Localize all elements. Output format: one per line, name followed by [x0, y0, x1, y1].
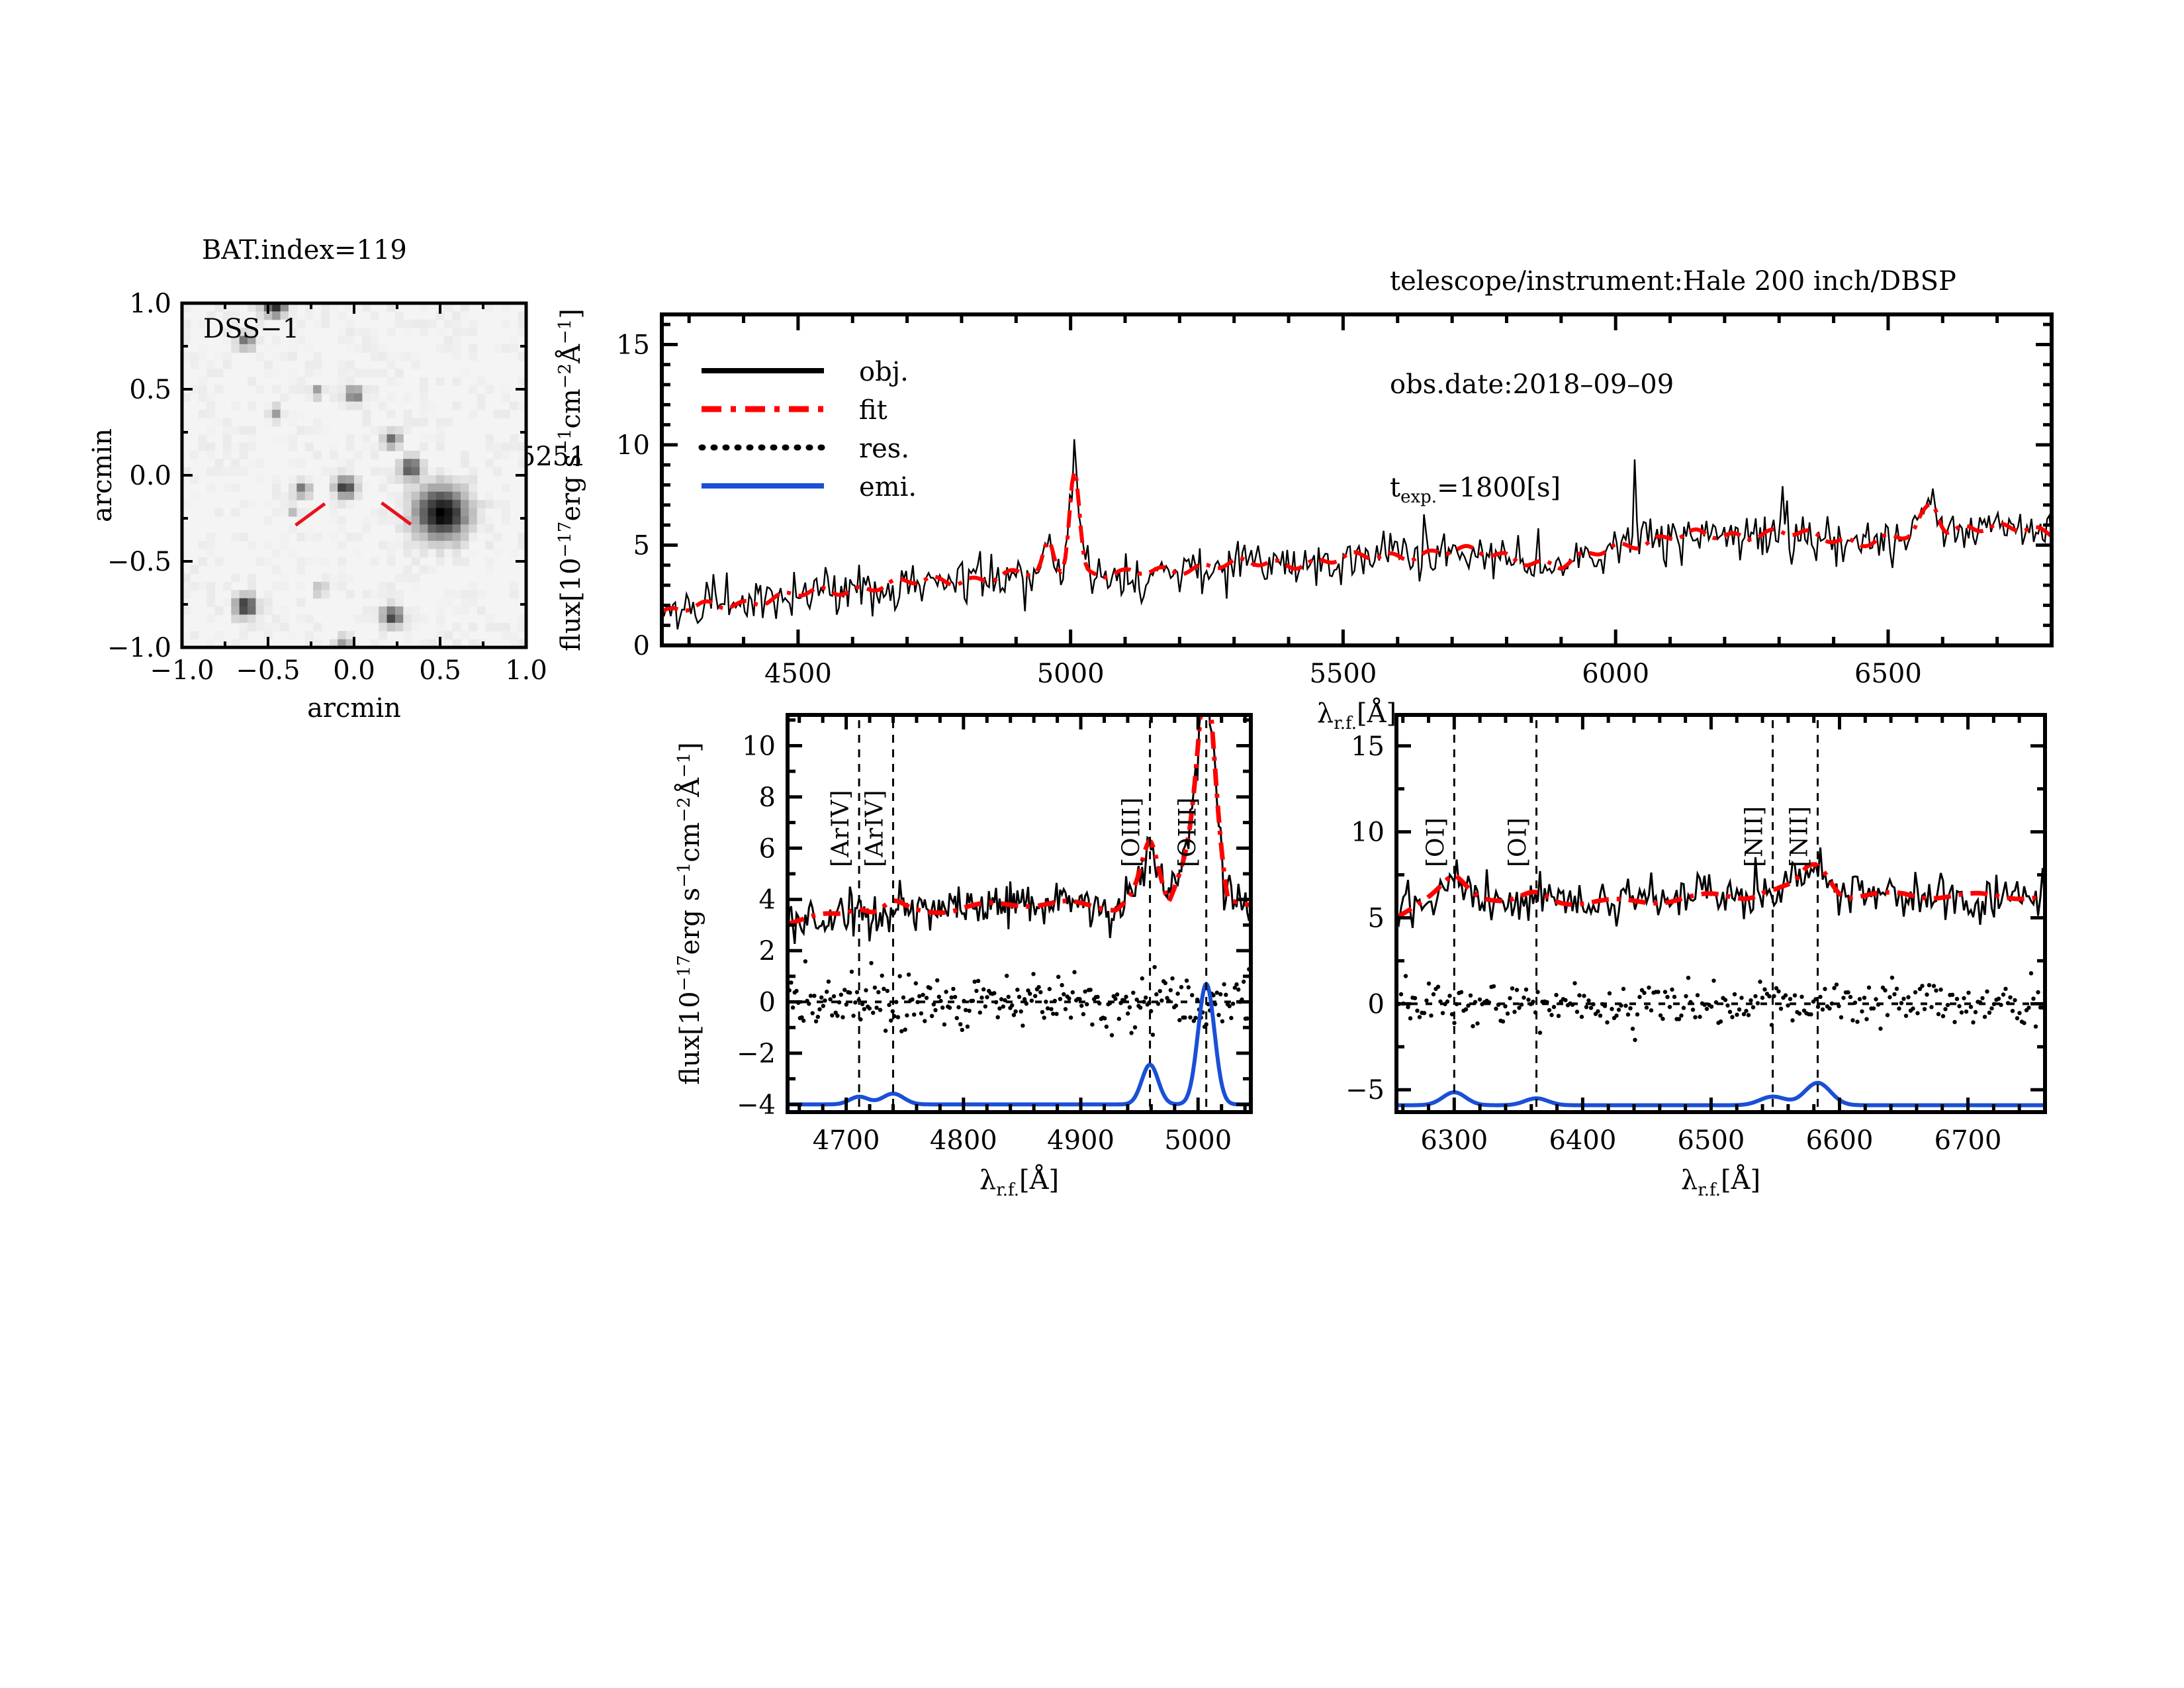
residual-point — [1779, 1007, 1783, 1011]
residual-point — [1617, 1008, 1621, 1011]
residual-point — [897, 974, 901, 978]
residual-point — [853, 1000, 857, 1004]
residual-point — [1231, 1002, 1235, 1006]
residual-point — [1776, 989, 1780, 993]
residual-point — [956, 1005, 960, 1009]
x-axis-label: λr.f.[Å] — [1681, 1164, 1760, 1200]
residual-point — [1575, 1009, 1579, 1013]
halpha-zoom-panel: [OI][OI][NII][NII]63006400650066006700−5… — [1297, 688, 2085, 1218]
residual-point — [811, 1011, 815, 1015]
residual-point — [1506, 1011, 1510, 1015]
residual-point — [1901, 997, 1905, 1001]
legend: obj.fitres.emi. — [702, 357, 917, 502]
residual-point — [1438, 1000, 1442, 1004]
residual-point — [828, 997, 832, 1001]
x-tick-label: 6300 — [1420, 1125, 1488, 1156]
x-tick-label: 6500 — [1854, 659, 1922, 689]
residual-point — [832, 994, 836, 998]
residual-point — [1649, 1008, 1653, 1012]
residual-point — [1853, 1001, 1857, 1005]
residual-point — [1864, 1017, 1868, 1021]
residual-point — [1725, 1004, 1729, 1008]
residual-point — [971, 999, 975, 1003]
residual-point — [1950, 993, 1954, 997]
residual-point — [1591, 1002, 1595, 1006]
residual-point — [1031, 972, 1035, 976]
residual-point — [1957, 1004, 1961, 1008]
residual-point — [907, 972, 911, 976]
residual-point — [1013, 1009, 1017, 1013]
residual-point — [979, 996, 983, 1000]
residual-point — [2006, 1001, 2010, 1005]
residual-point — [2022, 1021, 2026, 1025]
residual-point — [1056, 975, 1060, 979]
finder-xlabel: arcmin — [307, 693, 401, 724]
finder-xtick: 0.5 — [419, 655, 461, 686]
residual-point — [1605, 1020, 1609, 1024]
residual-point — [1936, 1012, 1940, 1016]
residual-point — [1520, 1002, 1524, 1006]
residual-point — [1823, 987, 1827, 991]
residual-point — [874, 1006, 878, 1009]
residual-point — [862, 1007, 866, 1011]
residual-point — [1985, 990, 1989, 994]
residual-point — [1424, 998, 1428, 1002]
residual-point — [1021, 1023, 1024, 1027]
residual-point — [1920, 984, 1924, 988]
residual-point — [999, 997, 1003, 1001]
residual-point — [1447, 994, 1451, 998]
residual-point — [1030, 999, 1034, 1003]
y-tick-label: 0 — [759, 988, 776, 1018]
residual-point — [1418, 1015, 1422, 1019]
residual-point — [1003, 998, 1007, 1002]
residual-point — [791, 1006, 795, 1009]
y-tick-label: 10 — [1351, 818, 1385, 848]
finder-ylabel: arcmin — [87, 428, 118, 522]
residual-point — [967, 1009, 971, 1013]
residual-point — [1090, 1023, 1094, 1027]
residual-point — [1015, 988, 1019, 992]
residual-point — [950, 996, 954, 1000]
residual-point — [1878, 1027, 1882, 1031]
residual-point — [1069, 1015, 1073, 1019]
residual-point — [1177, 1018, 1181, 1022]
y-tick-label: 5 — [1368, 903, 1385, 933]
residual-point — [1188, 1015, 1192, 1019]
y-tick-label: 15 — [1351, 731, 1385, 762]
finder-ytick: 0.5 — [129, 375, 171, 405]
residual-point — [1631, 1027, 1635, 1031]
residual-point — [864, 988, 868, 992]
residual-point — [1117, 1017, 1121, 1021]
residual-point — [816, 1015, 820, 1019]
residual-point — [1672, 995, 1676, 999]
residual-point — [844, 1002, 848, 1006]
residual-point — [974, 989, 978, 993]
residual-point — [807, 1002, 811, 1006]
residual-point — [901, 996, 905, 1000]
residual-point — [903, 1027, 907, 1031]
residual-point — [1971, 1020, 1975, 1024]
residual-point — [923, 1019, 927, 1023]
residual-point — [1874, 997, 1878, 1001]
residual-point — [938, 999, 942, 1003]
y-tick-label: −2 — [737, 1039, 776, 1069]
residual-point — [973, 980, 977, 984]
residual-point — [1242, 980, 1246, 984]
residual-point — [1925, 992, 1929, 996]
residual-point — [1001, 1004, 1005, 1008]
residual-point — [842, 988, 846, 992]
residual-point — [935, 978, 939, 982]
residual-point — [1762, 988, 1766, 992]
residual-point — [1897, 1006, 1901, 1010]
residual-point — [1224, 993, 1228, 997]
residual-point — [1126, 1011, 1130, 1015]
residual-point — [1837, 1004, 1841, 1008]
residual-point — [1684, 994, 1688, 998]
residual-point — [1637, 995, 1641, 999]
residual-point — [930, 1014, 934, 1018]
residual-point — [1156, 1002, 1160, 1006]
residual-point — [1160, 998, 1163, 1002]
residual-point — [1693, 1015, 1697, 1019]
residual-point — [1535, 990, 1539, 994]
residual-point — [1154, 992, 1158, 996]
residual-point — [1753, 994, 1757, 998]
residual-point — [951, 987, 955, 991]
residual-point — [1737, 1008, 1741, 1011]
residual-point — [1079, 1004, 1083, 1008]
residual-point — [1686, 976, 1690, 980]
residual-point — [1526, 998, 1530, 1002]
residual-point — [1809, 1012, 1813, 1016]
residual-point — [910, 998, 914, 1002]
residual-point — [1471, 1024, 1475, 1028]
residual-point — [1124, 995, 1128, 999]
residual-point — [1007, 995, 1011, 999]
residual-point — [1818, 995, 1822, 999]
x-tick-label: 6700 — [1934, 1125, 2002, 1156]
residual-point — [942, 1022, 946, 1026]
residual-point — [871, 1011, 875, 1015]
residual-point — [1751, 1006, 1755, 1009]
residual-point — [994, 1000, 998, 1004]
residual-point — [919, 1011, 923, 1015]
residual-point — [937, 995, 941, 999]
residual-point — [1860, 1009, 1864, 1013]
residual-point — [835, 1013, 839, 1017]
residual-point — [1946, 1003, 1950, 1007]
residual-point — [1213, 1002, 1217, 1006]
residual-point — [1469, 994, 1473, 998]
residual-point — [1494, 1007, 1498, 1011]
residual-point — [1135, 998, 1139, 1002]
residual-point — [1633, 1038, 1637, 1042]
residual-point — [1941, 1014, 1945, 1018]
residual-point — [1999, 1003, 2003, 1007]
x-tick-label: 4700 — [813, 1125, 880, 1156]
residual-point — [812, 994, 816, 998]
residual-point — [1151, 1033, 1155, 1037]
residual-point — [921, 993, 925, 997]
object-spectrum-line — [662, 440, 2052, 630]
residual-point — [1105, 1025, 1109, 1029]
residual-point — [1635, 1012, 1639, 1016]
residual-point — [1077, 997, 1081, 1001]
residual-point — [886, 989, 889, 993]
residual-point — [1927, 983, 1931, 987]
residual-point — [1987, 1011, 1991, 1015]
y-axis-label: flux[10−17erg s−1cm−2Å−1] — [555, 308, 586, 651]
residual-point — [1876, 1002, 1880, 1006]
legend-label-obj: obj. — [859, 357, 909, 387]
residual-point — [1747, 1013, 1751, 1017]
residual-point — [958, 1022, 962, 1026]
residual-point — [1610, 1007, 1614, 1011]
emission-line-label: [NII] — [1786, 806, 1813, 867]
x-tick-label: 6000 — [1582, 659, 1649, 689]
residual-point — [1128, 1006, 1132, 1009]
residual-point — [1097, 1002, 1101, 1006]
residual-point — [1691, 1008, 1695, 1011]
residual-point — [1415, 1009, 1419, 1013]
residual-point — [1832, 986, 1836, 990]
residual-point — [855, 990, 859, 994]
residual-point — [1170, 976, 1174, 980]
residual-point — [1850, 1018, 1854, 1022]
residual-point — [1790, 1018, 1794, 1022]
residual-point — [1974, 1010, 1978, 1014]
residual-point — [880, 974, 884, 978]
residual-point — [1140, 976, 1144, 980]
residual-point — [1577, 993, 1581, 997]
residual-point — [1728, 1009, 1732, 1013]
residual-point — [1185, 978, 1189, 982]
residual-point — [1033, 994, 1037, 998]
residual-point — [1129, 1031, 1133, 1035]
residual-point — [1628, 1006, 1632, 1010]
residual-point — [1586, 998, 1590, 1002]
residual-point — [1895, 987, 1899, 991]
finder-ytick: −0.5 — [107, 547, 171, 577]
finder-xtick: −0.5 — [236, 655, 300, 686]
residual-point — [1010, 1004, 1014, 1008]
residual-point — [1668, 1005, 1672, 1009]
residual-point — [1952, 1020, 1956, 1024]
residual-point — [1019, 1009, 1023, 1013]
residual-point — [1404, 974, 1408, 978]
residual-point — [873, 986, 877, 990]
residual-point — [2029, 971, 2033, 975]
residual-point — [1183, 1015, 1187, 1019]
residual-point — [1767, 994, 1771, 998]
residual-point — [827, 980, 831, 984]
residual-point — [1872, 1006, 1876, 1010]
residual-point — [794, 989, 798, 993]
residual-point — [966, 1025, 970, 1029]
residual-point — [1584, 1005, 1588, 1009]
x-axis-label: λr.f.[Å] — [979, 1164, 1059, 1200]
y-tick-label: −5 — [1345, 1075, 1385, 1105]
residual-point — [1422, 1011, 1426, 1015]
residual-point — [851, 1013, 855, 1017]
residual-point — [1429, 1013, 1433, 1017]
residual-point — [940, 1006, 944, 1009]
residual-point — [1496, 1003, 1500, 1007]
residual-point — [1058, 997, 1062, 1001]
residual-point — [1512, 1009, 1516, 1013]
residual-point — [1049, 1007, 1053, 1011]
residual-point — [2036, 990, 2040, 994]
residual-point — [1960, 1010, 1964, 1014]
residual-point — [1501, 1019, 1505, 1023]
residual-point — [1399, 992, 1403, 996]
residual-point — [1702, 1003, 1706, 1007]
residual-point — [1563, 998, 1567, 1002]
emission-line-label: [ArIV] — [861, 789, 888, 867]
residual-point — [1679, 1013, 1683, 1017]
x-tick-label: 6600 — [1806, 1125, 1874, 1156]
residual-point — [1589, 1006, 1593, 1009]
residual-point — [1167, 999, 1171, 1003]
residual-point — [2026, 1006, 2030, 1009]
finder-ytick: 1.0 — [129, 289, 171, 319]
residual-point — [1608, 991, 1612, 995]
residual-point — [1997, 997, 2001, 1001]
residual-point — [1473, 1000, 1477, 1004]
y-tick-label: 15 — [616, 330, 650, 360]
residual-point — [978, 1010, 982, 1014]
residual-point — [1830, 1002, 1834, 1006]
residual-point — [1432, 992, 1435, 996]
residual-point — [1929, 1005, 1933, 1009]
residual-point — [1621, 987, 1625, 991]
finder-xtick: 1.0 — [505, 655, 547, 686]
residual-point — [1557, 1014, 1561, 1018]
residual-point — [1665, 995, 1669, 999]
emission-line-label: [OIII] — [1118, 797, 1146, 867]
residual-point — [1784, 993, 1788, 997]
residual-point — [1911, 1006, 1915, 1010]
residual-point — [868, 1006, 872, 1010]
residual-point — [1552, 1005, 1556, 1009]
residual-point — [1508, 996, 1512, 1000]
object-spectrum-line — [1396, 847, 2045, 927]
residual-point — [1158, 989, 1162, 993]
residual-point — [1478, 998, 1482, 1002]
residual-point — [814, 1019, 818, 1023]
residual-point — [1892, 992, 1896, 996]
bat-index-text: BAT.index=119 — [202, 233, 586, 267]
residual-point — [1054, 1012, 1058, 1016]
x-tick-label: 6400 — [1549, 1125, 1616, 1156]
y-tick-label: 8 — [759, 782, 776, 813]
residual-point — [1216, 1013, 1220, 1017]
residual-point — [1436, 985, 1440, 989]
residual-point — [1886, 1013, 1889, 1017]
residual-point — [1427, 982, 1431, 986]
residual-point — [1072, 970, 1076, 974]
residual-point — [2034, 1025, 2038, 1029]
residual-point — [1108, 1001, 1112, 1005]
residual-point — [1793, 994, 1797, 998]
residual-point — [1696, 993, 1700, 997]
residual-point — [1142, 1000, 1146, 1004]
residual-point — [964, 1008, 968, 1012]
residual-point — [2008, 996, 2012, 1000]
y-tick-label: 4 — [759, 885, 776, 915]
residual-point — [1445, 1000, 1449, 1004]
residual-point — [882, 987, 886, 991]
residual-point — [1841, 996, 1845, 1000]
residual-point — [1969, 1005, 1973, 1009]
residual-point — [1966, 991, 1970, 995]
residual-point — [1220, 1019, 1224, 1023]
residual-point — [932, 1002, 936, 1006]
residual-point — [1085, 1002, 1089, 1006]
residual-point — [803, 959, 807, 963]
residual-point — [837, 1000, 841, 1004]
residual-point — [887, 1003, 891, 1007]
residual-point — [1122, 998, 1126, 1002]
residual-point — [878, 1008, 882, 1012]
residual-point — [1758, 980, 1762, 984]
legend-label-res: res. — [859, 434, 909, 464]
residual-point — [1487, 1000, 1491, 1004]
residual-point — [1906, 995, 1910, 999]
residual-point — [1089, 988, 1093, 992]
residual-point — [981, 987, 985, 991]
y-tick-label: 2 — [759, 936, 776, 966]
residual-point — [1138, 1006, 1142, 1009]
residual-point — [884, 1029, 887, 1033]
residual-point — [1103, 1016, 1107, 1020]
residual-point — [1962, 996, 1966, 1000]
residual-point — [1169, 988, 1173, 992]
residual-point — [1705, 1007, 1709, 1011]
residual-point — [1163, 981, 1167, 985]
residual-point — [1572, 981, 1576, 985]
residual-point — [1218, 992, 1222, 996]
residual-point — [1682, 1006, 1686, 1009]
residual-point — [1549, 1013, 1553, 1017]
residual-point — [1570, 1003, 1574, 1007]
residual-point — [925, 996, 929, 1000]
x-tick-label: 6500 — [1678, 1125, 1745, 1156]
residual-point — [962, 999, 966, 1003]
residual-point — [789, 980, 793, 984]
residual-point — [1222, 982, 1226, 986]
residual-point — [1229, 1016, 1233, 1020]
residual-point — [1466, 1004, 1470, 1008]
residual-point — [1855, 1019, 1859, 1023]
residual-point — [1735, 1013, 1739, 1017]
residual-point — [1677, 1017, 1681, 1021]
residual-point — [985, 995, 989, 999]
residual-point — [1858, 997, 1862, 1001]
residual-point — [1113, 997, 1117, 1001]
residual-point — [841, 1015, 844, 1019]
residual-point — [912, 1013, 916, 1017]
residual-point — [1978, 1000, 1982, 1004]
residual-point — [1580, 1015, 1584, 1019]
residual-point — [914, 981, 918, 985]
residual-point — [1749, 998, 1752, 1002]
residual-point — [1888, 995, 1891, 999]
residual-point — [996, 1015, 1000, 1019]
